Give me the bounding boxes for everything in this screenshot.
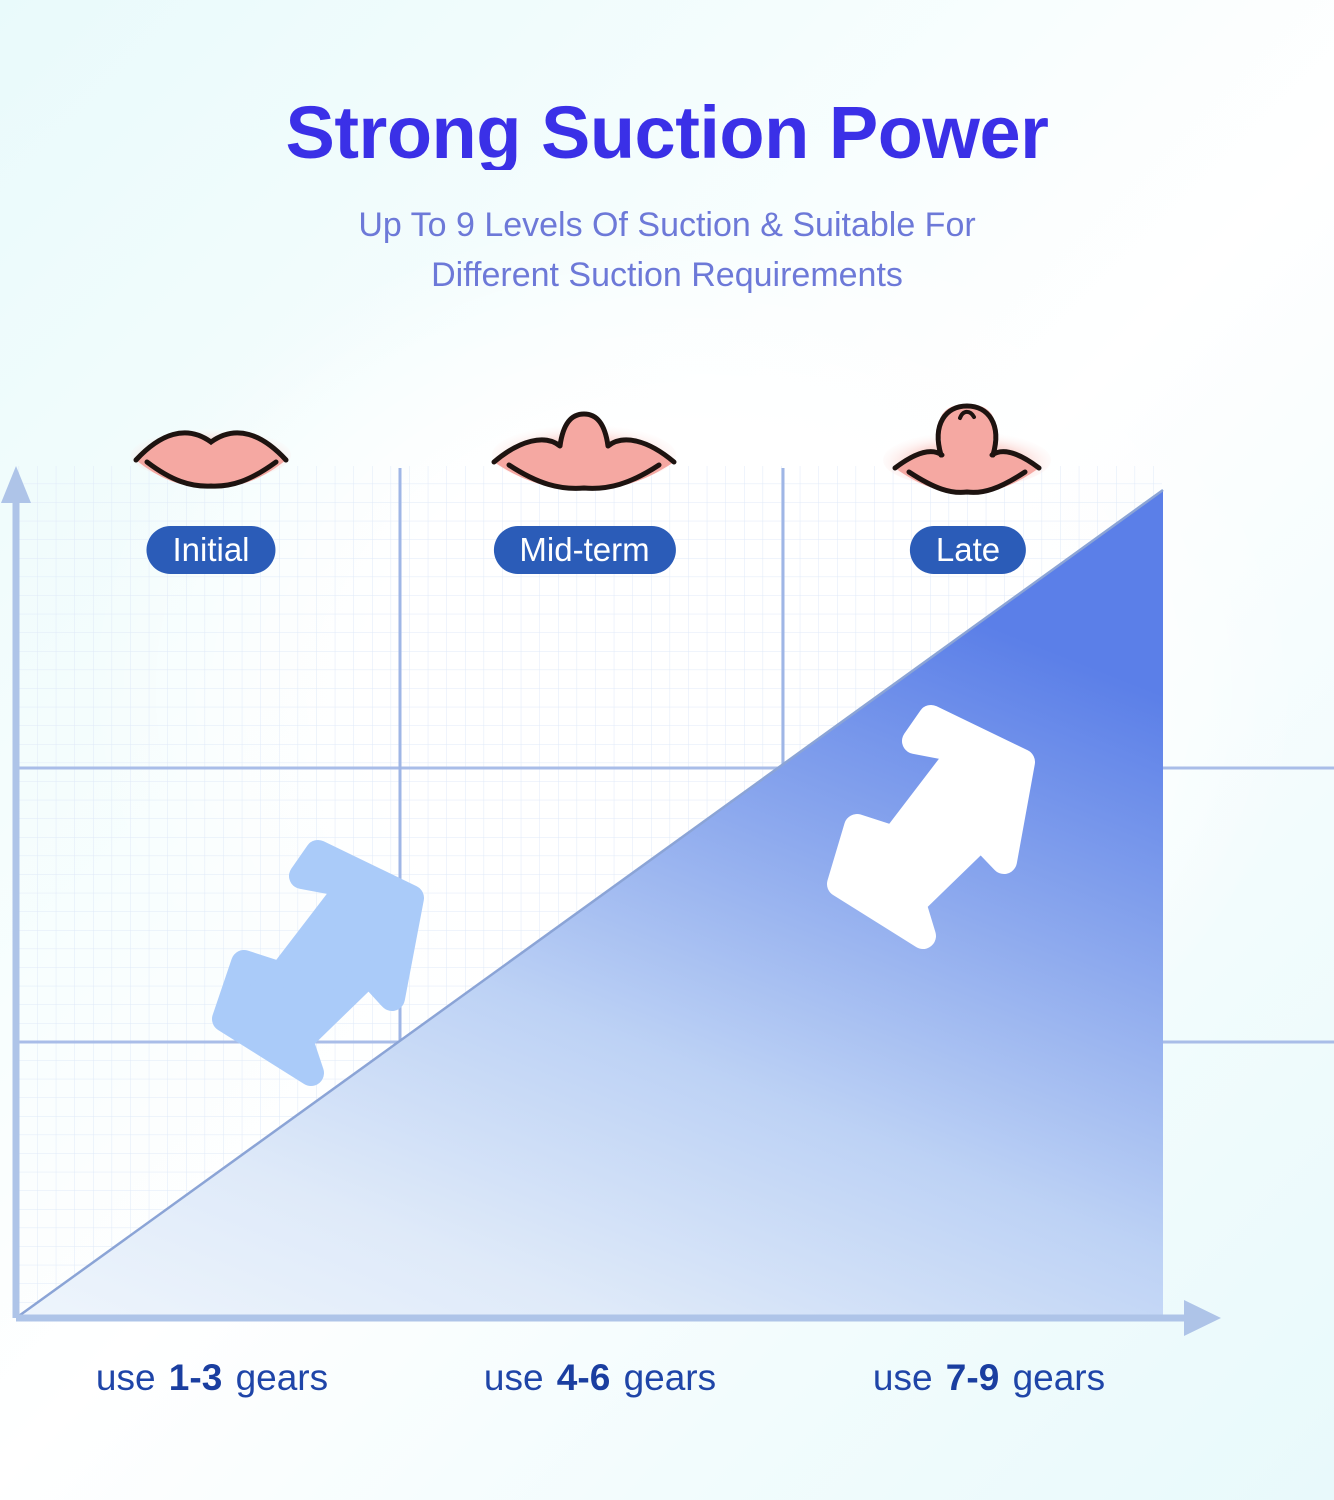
suction-power-chart <box>0 0 1334 1500</box>
caption-suffix: gears <box>225 1357 328 1398</box>
lips-large-bump-icon <box>883 404 1051 492</box>
caption-prefix: use <box>96 1357 166 1398</box>
caption-prefix: use <box>484 1357 554 1398</box>
gear-captions: use 1-3 gears use 4-6 gears use 7-9 gear… <box>0 1348 1334 1408</box>
stage-badge-initial[interactable]: Initial <box>146 526 275 574</box>
caption-suffix: gears <box>1002 1357 1105 1398</box>
caption-prefix: use <box>873 1357 943 1398</box>
gear-caption-1-3: use 1-3 gears <box>96 1348 328 1408</box>
caption-range: 4-6 <box>554 1357 613 1398</box>
caption-range: 7-9 <box>943 1357 1002 1398</box>
promo-graphic-page: Strong Suction Power Up To 9 Levels Of S… <box>0 0 1334 1500</box>
caption-suffix: gears <box>613 1357 716 1398</box>
gear-caption-4-6: use 4-6 gears <box>484 1348 716 1408</box>
gear-caption-7-9: use 7-9 gears <box>873 1348 1105 1408</box>
stage-badge-mid-term[interactable]: Mid-term <box>493 526 675 574</box>
stage-badge-late[interactable]: Late <box>910 526 1026 574</box>
caption-range: 1-3 <box>166 1357 225 1398</box>
